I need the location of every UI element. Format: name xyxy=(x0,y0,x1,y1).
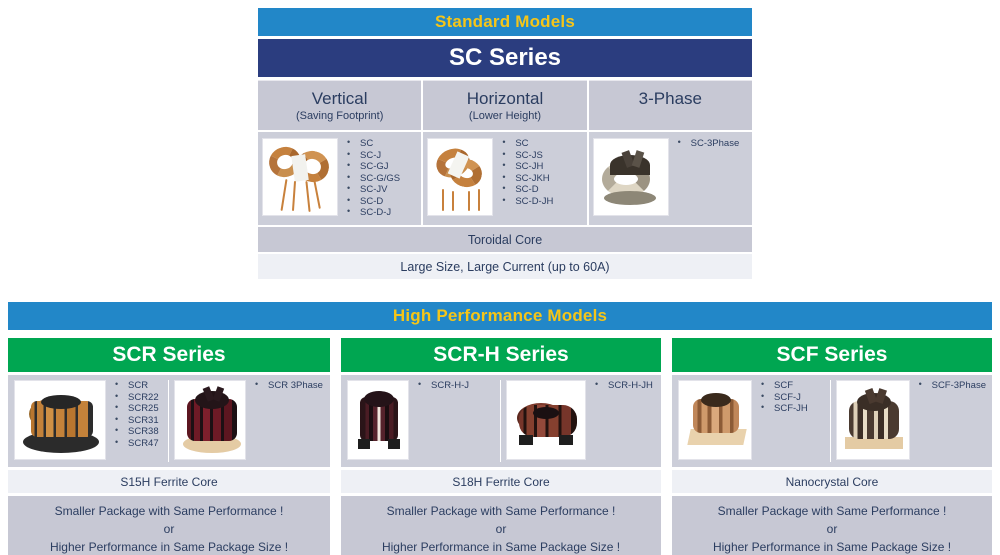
list-item: SC-GJ xyxy=(344,161,417,173)
list-item: SCR 3Phase xyxy=(252,380,324,392)
standard-column-headers: Vertical (Saving Footprint) Horizontal (… xyxy=(258,80,752,130)
list-item: SCR-H-J xyxy=(415,380,496,392)
note-line-3: Higher Performance in Same Package Size … xyxy=(672,538,992,555)
model-list-scr-h-jh: SCR-H-JH xyxy=(586,380,655,392)
scr-h-group-j: SCR-H-J xyxy=(345,380,498,462)
list-item: SCR xyxy=(112,380,164,392)
model-list-vertical: SC SC-J SC-GJ SC-G/GS SC-JV SC-D SC-D-J xyxy=(338,138,417,219)
model-list-horizontal: SC SC-JS SC-JH SC-JKH SC-D SC-D-JH xyxy=(493,138,582,207)
model-list-scr-h-j: SCR-H-J xyxy=(409,380,496,392)
list-item: SC-D xyxy=(499,184,582,196)
note-line-2: or xyxy=(341,520,661,538)
list-item: SC xyxy=(499,138,582,150)
column-header-vertical: Vertical (Saving Footprint) xyxy=(258,80,421,130)
column-header-horizontal: Horizontal (Lower Height) xyxy=(423,80,586,130)
scr-h-note: Smaller Package with Same Performance ! … xyxy=(341,496,661,555)
panel-gap-1 xyxy=(330,338,341,555)
list-item: SC-G/GS xyxy=(344,173,417,185)
note-line-3: Higher Performance in Same Package Size … xyxy=(8,538,330,555)
list-item: SCR31 xyxy=(112,415,164,427)
list-item: SC-D xyxy=(344,196,417,208)
model-list-scr-3phase: SCR 3Phase xyxy=(246,380,324,392)
cell-horizontal: SC SC-JS SC-JH SC-JKH SC-D SC-D-JH xyxy=(423,132,586,225)
note-line-1: Smaller Package with Same Performance ! xyxy=(672,502,992,520)
column-title: Vertical xyxy=(260,89,419,109)
scr-toroid-photo xyxy=(14,380,106,460)
list-item: SCF-3Phase xyxy=(916,380,986,392)
column-subtitle: (Lower Height) xyxy=(425,109,584,123)
standard-note-row: Large Size, Large Current (up to 60A) xyxy=(258,254,752,279)
standard-models-block: Standard Models SC Series Vertical (Savi… xyxy=(258,8,752,279)
high-performance-panels: SCR Series SCR SCR22 SCR25 xyxy=(8,338,992,555)
scr-h-series-body: SCR-H-J SCR-H-JH xyxy=(341,375,661,467)
standard-content-row: SC SC-J SC-GJ SC-G/GS SC-JV SC-D SC-D-J xyxy=(258,132,752,225)
list-item: SC-D-JH xyxy=(499,196,582,208)
scr-h-core-label: S18H Ferrite Core xyxy=(341,470,661,493)
panel-scr-h-series: SCR-H Series SCR-H-J xyxy=(341,338,661,555)
list-item: SC xyxy=(344,138,417,150)
model-list-scf-3phase: SCF-3Phase xyxy=(910,380,986,392)
scf-core-label: Nanocrystal Core xyxy=(672,470,992,493)
scf-series-body: SCF SCF-J SCF-JH xyxy=(672,375,992,467)
note-line-2: or xyxy=(672,520,992,538)
scf-group-3phase: SCF-3Phase xyxy=(830,380,988,462)
scf-toroid-photo xyxy=(678,380,752,460)
scr-h-j-toroid-photo xyxy=(347,380,409,460)
scf-series-title: SCF Series xyxy=(672,338,992,372)
list-item: SC-3Phase xyxy=(675,138,748,150)
column-title: Horizontal xyxy=(425,89,584,109)
list-item: SC-J xyxy=(344,150,417,162)
list-item: SC-JV xyxy=(344,184,417,196)
column-title: 3-Phase xyxy=(591,89,750,109)
column-subtitle: (Saving Footprint) xyxy=(260,109,419,123)
scr-note: Smaller Package with Same Performance ! … xyxy=(8,496,330,555)
high-performance-banner: High Performance Models xyxy=(8,302,992,330)
scr-group-3phase: SCR 3Phase xyxy=(168,380,326,462)
list-item: SCF-JH xyxy=(758,403,826,415)
list-item: SCR47 xyxy=(112,438,164,450)
note-line-1: Smaller Package with Same Performance ! xyxy=(341,502,661,520)
list-item: SCR-H-JH xyxy=(592,380,655,392)
scr-h-series-title: SCR-H Series xyxy=(341,338,661,372)
list-item: SC-JKH xyxy=(499,173,582,185)
scr-group-standard: SCR SCR22 SCR25 SCR31 SCR38 SCR47 xyxy=(12,380,166,462)
scr-series-body: SCR SCR22 SCR25 SCR31 SCR38 SCR47 xyxy=(8,375,330,467)
note-line-1: Smaller Package with Same Performance ! xyxy=(8,502,330,520)
list-item: SCR25 xyxy=(112,403,164,415)
list-item: SC-JH xyxy=(499,161,582,173)
sc-series-title: SC Series xyxy=(258,39,752,77)
scr-3phase-toroid-photo xyxy=(174,380,246,460)
panel-scr-series: SCR Series SCR SCR22 SCR25 xyxy=(8,338,330,555)
list-item: SCR38 xyxy=(112,426,164,438)
scr-h-jh-toroid-photo xyxy=(506,380,586,460)
model-list-scf: SCF SCF-J SCF-JH xyxy=(752,380,826,415)
model-list-scr: SCR SCR22 SCR25 SCR31 SCR38 SCR47 xyxy=(106,380,164,449)
scr-core-label: S15H Ferrite Core xyxy=(8,470,330,493)
note-line-3: Higher Performance in Same Package Size … xyxy=(341,538,661,555)
list-item: SCR22 xyxy=(112,392,164,404)
product-overview-page: Standard Models SC Series Vertical (Savi… xyxy=(0,0,1000,555)
scf-3phase-toroid-photo xyxy=(836,380,910,460)
list-item: SC-D-J xyxy=(344,207,417,219)
list-item: SCF-J xyxy=(758,392,826,404)
standard-models-banner: Standard Models xyxy=(258,8,752,36)
sc-vertical-toroid-photo xyxy=(262,138,338,216)
list-item: SCF xyxy=(758,380,826,392)
sc-horizontal-toroid-photo xyxy=(427,138,493,216)
list-item: SC-JS xyxy=(499,150,582,162)
scr-h-group-jh: SCR-H-JH xyxy=(500,380,657,462)
note-line-2: or xyxy=(8,520,330,538)
scf-group-standard: SCF SCF-J SCF-JH xyxy=(676,380,828,462)
sc-3phase-toroid-photo xyxy=(593,138,669,216)
column-header-3phase: 3-Phase xyxy=(589,80,752,130)
scf-note: Smaller Package with Same Performance ! … xyxy=(672,496,992,555)
scr-series-title: SCR Series xyxy=(8,338,330,372)
panel-scf-series: SCF Series SCF SCF-J SCF-JH xyxy=(672,338,992,555)
cell-vertical: SC SC-J SC-GJ SC-G/GS SC-JV SC-D SC-D-J xyxy=(258,132,421,225)
panel-gap-2 xyxy=(661,338,672,555)
cell-3phase: SC-3Phase xyxy=(589,132,752,225)
standard-core-row: Toroidal Core xyxy=(258,227,752,252)
model-list-3phase: SC-3Phase xyxy=(669,138,748,150)
